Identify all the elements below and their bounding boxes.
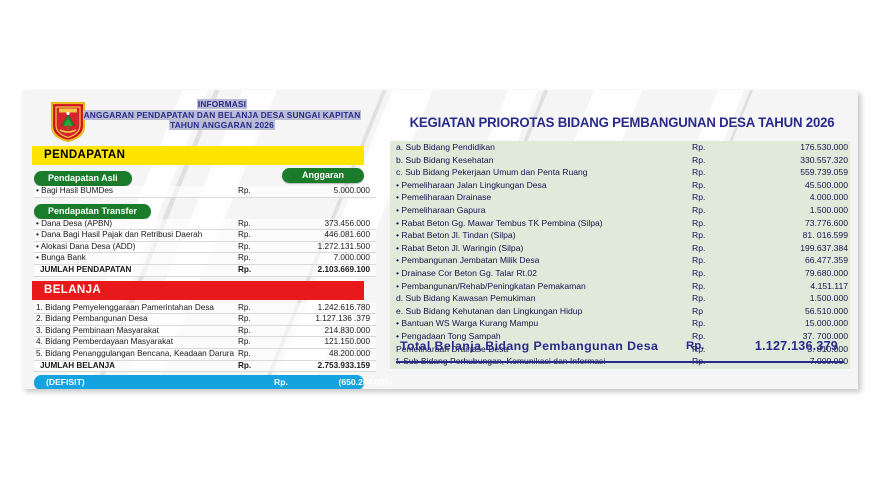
pill-pendapatan-transfer: Pendapatan Transfer — [34, 204, 151, 219]
list-item: • Pemeliharaan DrainaseRp.4.000.000 — [396, 191, 858, 204]
row-amount: 214.830.000 — [282, 325, 376, 337]
poster-title: INFORMASI ANGGARAN PENDAPATAN DAN BELANJ… — [78, 99, 366, 131]
item-label: a. Sub Bidang Pendidikan — [396, 141, 692, 154]
defisit-currency: Rp. — [274, 375, 288, 389]
pendapatan-asli-body: • Bagi Hasil BUMDesRp.5.000.000 — [34, 186, 376, 197]
row-label: JUMLAH BELANJA — [34, 360, 234, 372]
item-currency: Rp. — [692, 217, 738, 230]
table-row: JUMLAH BELANJARp.2.753.933.159 — [34, 360, 376, 372]
row-label: • Bunga Bank — [34, 253, 234, 265]
defisit-amount: (650.264.095) — [302, 375, 392, 389]
item-label: • Bantuan WS Warga Kurang Mampu — [396, 317, 692, 330]
poster-header: INFORMASI ANGGARAN PENDAPATAN DAN BELANJ… — [26, 94, 370, 146]
row-label: • Bagi Hasil BUMDes — [34, 186, 234, 197]
item-amount: 73.776.600 — [738, 217, 858, 230]
priority-panel-title: KEGIATAN PRIOROTAS BIDANG PEMBANGUNAN DE… — [406, 115, 838, 131]
table-row: • Dana Bagi Hasil Pajak dan Retribusi Da… — [34, 230, 376, 242]
item-label: • Pemeliharaan Jalan Lingkungan Desa — [396, 179, 692, 192]
pill-anggaran-column-header: Anggaran — [282, 168, 364, 183]
row-currency: Rp. — [234, 264, 282, 276]
item-currency: Rp. — [692, 154, 738, 167]
row-currency: Rp. — [234, 219, 282, 230]
list-item: • Rabat Beton Jl. Tindan (Silpa)Rp.81. 0… — [396, 229, 858, 242]
table-row: • Bunga BankRp.7.000.000 — [34, 253, 376, 265]
item-amount: 81. 016.599 — [738, 229, 858, 242]
row-currency: Rp. — [234, 337, 282, 349]
table-row: 4. Bidang Pemberdayaan MasyarakatRp.121.… — [34, 337, 376, 349]
item-amount: 559.739.059 — [738, 166, 858, 179]
section-band-pendapatan: PENDAPATAN — [32, 146, 364, 165]
item-label: • Pembangunan Jembatan Milik Desa — [396, 254, 692, 267]
item-label: • Rabat Beton Jl. Waringin (Silpa) — [396, 242, 692, 255]
table-pendapatan-asli: • Bagi Hasil BUMDesRp.5.000.000 — [34, 186, 376, 198]
table-row: JUMLAH PENDAPATANRp.2.103.669.100 — [34, 264, 376, 276]
row-currency: Rp. — [234, 348, 282, 360]
row-label: 3. Bidang Pembinaan Masyarakat — [34, 325, 234, 337]
row-label: 4. Bidang Pemberdayaan Masyarakat — [34, 337, 234, 349]
defisit-label: (DEFISIT) — [46, 375, 85, 389]
item-label: e. Sub Bidang Kehutanan dan Lingkungan H… — [396, 305, 692, 318]
table-row: 2. Bidang Pembangunan DesaRp.1.127.136 .… — [34, 314, 376, 326]
table-row: • Dana Desa (APBN)Rp.373.456.000 — [34, 219, 376, 230]
item-amount: 56.510.000 — [738, 305, 858, 318]
row-defisit: (DEFISIT) Rp. (650.264.095) — [34, 375, 364, 389]
item-label: c. Sub Bidang Pekerjaan Umum dan Penta R… — [396, 166, 692, 179]
row-amount: 121.150.000 — [282, 337, 376, 349]
table-row: 3. Bidang Pembinaan MasyarakatRp.214.830… — [34, 325, 376, 337]
revenue-expenditure-panel: INFORMASI ANGGARAN PENDAPATAN DAN BELANJ… — [26, 94, 370, 385]
row-amount: 2.103.669.100 — [282, 264, 376, 276]
item-currency: Rp. — [692, 204, 738, 217]
list-item: • Drainase Cor Beton Gg. Talar Rt.02Rp.7… — [396, 267, 858, 280]
item-label: • Pemeliharaan Drainase — [396, 191, 692, 204]
poster-title-line-3: TAHUN ANGGARAN 2026 — [169, 120, 275, 130]
row-label: • Alokasi Dana Desa (ADD) — [34, 241, 234, 253]
table-row: 5. Bidang Penanggulangan Bencana, Keadaa… — [34, 348, 376, 360]
item-label: • Pembangunan/Rehab/Peningkatan Pemakama… — [396, 280, 692, 293]
row-amount: 1.242.616.780 — [282, 303, 376, 314]
item-label: b. Sub Bidang Kesehatan — [396, 154, 692, 167]
item-currency: Rp. — [692, 254, 738, 267]
item-currency: Rp. — [692, 179, 738, 192]
list-item: • Pembangunan/Rehab/Peningkatan Pemakama… — [396, 280, 858, 293]
row-label: 2. Bidang Pembangunan Desa — [34, 314, 234, 326]
section-band-belanja: BELANJA — [32, 281, 364, 300]
list-item: • Pemeliharaan GapuraRp.1.500.000 — [396, 204, 858, 217]
row-amount: 7.000.000 — [282, 253, 376, 265]
belanja-body: 1. Bidang Pemyelenggaraan Pamerintahan D… — [34, 303, 376, 372]
row-amount: 2.753.933.159 — [282, 360, 376, 372]
list-item: • Rabat Beton Gg. Mawar Tembus TK Pembin… — [396, 217, 858, 230]
row-currency: Rp. — [234, 314, 282, 326]
item-amount: 1.500.000 — [738, 292, 858, 305]
item-amount: 4.000.000 — [738, 191, 858, 204]
item-currency: Rp. — [692, 229, 738, 242]
row-currency: Rp. — [234, 186, 282, 197]
list-item: • Pemeliharaan Jalan Lingkungan DesaRp.4… — [396, 179, 858, 192]
row-amount: 1.127.136 .379 — [282, 314, 376, 326]
item-label: • Drainase Cor Beton Gg. Talar Rt.02 — [396, 267, 692, 280]
pendapatan-transfer-header-row: Pendapatan Transfer — [26, 198, 370, 219]
table-row: • Bagi Hasil BUMDesRp.5.000.000 — [34, 186, 376, 197]
pill-pendapatan-asli: Pendapatan Asli — [34, 171, 132, 186]
list-item: • Rabat Beton Jl. Waringin (Silpa)Rp.199… — [396, 242, 858, 255]
list-item: b. Sub Bidang KesehatanRp.330.557.320 — [396, 154, 858, 167]
table-row: • Alokasi Dana Desa (ADD)Rp.1.272.131.50… — [34, 241, 376, 253]
item-label: • Rabat Beton Gg. Mawar Tembus TK Pembin… — [396, 217, 692, 230]
item-currency: Rp. — [692, 292, 738, 305]
list-item: a. Sub Bidang PendidikanRp.176.530.000 — [396, 141, 858, 154]
list-item: • Pembangunan Jembatan Milik DesaRp.66.4… — [396, 254, 858, 267]
item-currency: Rp. — [692, 242, 738, 255]
row-amount: 1.272.131.500 — [282, 241, 376, 253]
screenshot-root: INFORMASI ANGGARAN PENDAPATAN DAN BELANJ… — [0, 0, 880, 495]
table-priority-activities: a. Sub Bidang PendidikanRp.176.530.000b.… — [396, 141, 858, 368]
item-currency: Rp. — [692, 267, 738, 280]
item-amount: 330.557.320 — [738, 154, 858, 167]
item-amount: 1.500.000 — [738, 204, 858, 217]
row-currency: Rp. — [234, 303, 282, 314]
item-amount: 176.530.000 — [738, 141, 858, 154]
list-item: e. Sub Bidang Kehutanan dan Lingkungan H… — [396, 305, 858, 318]
row-currency: Rp. — [234, 360, 282, 372]
row-label: • Dana Desa (APBN) — [34, 219, 234, 230]
pendapatan-asli-header-row: Pendapatan Asli Anggaran — [26, 165, 370, 186]
row-label: JUMLAH PENDAPATAN — [34, 264, 234, 276]
poster-title-line-2: ANGGARAN PENDAPATAN DAN BELANJA DESA SUN… — [83, 110, 362, 120]
grand-total-currency: Rp. — [686, 340, 704, 352]
row-label: 1. Bidang Pemyelenggaraan Pamerintahan D… — [34, 303, 234, 314]
item-amount: 66.477.359 — [738, 254, 858, 267]
item-label: d. Sub Bidang Kawasan Pemukiman — [396, 292, 692, 305]
item-label: • Rabat Beton Jl. Tindan (Silpa) — [396, 229, 692, 242]
list-item: c. Sub Bidang Pekerjaan Umum dan Penta R… — [396, 166, 858, 179]
row-label: • Dana Bagi Hasil Pajak dan Retribusi Da… — [34, 230, 234, 242]
priority-activities-panel: KEGIATAN PRIOROTAS BIDANG PEMBANGUNAN DE… — [390, 94, 854, 385]
row-currency: Rp. — [234, 325, 282, 337]
item-currency: Rp. — [692, 191, 738, 204]
table-pendapatan-transfer: • Dana Desa (APBN)Rp.373.456.000• Dana B… — [34, 219, 376, 277]
row-currency: Rp. — [234, 230, 282, 242]
item-currency: Rp — [692, 305, 738, 318]
item-amount: 45.500.000 — [738, 179, 858, 192]
grand-total-amount: 1.127.136.379 — [726, 339, 838, 353]
poster-title-line-1: INFORMASI — [197, 99, 247, 109]
item-amount: 199.637.384 — [738, 242, 858, 255]
apbdes-infographic-poster: INFORMASI ANGGARAN PENDAPATAN DAN BELANJ… — [22, 90, 858, 389]
table-row: 1. Bidang Pemyelenggaraan Pamerintahan D… — [34, 303, 376, 314]
row-amount: 5.000.000 — [282, 186, 376, 197]
table-belanja: 1. Bidang Pemyelenggaraan Pamerintahan D… — [34, 303, 376, 373]
item-label: • Pemeliharaan Gapura — [396, 204, 692, 217]
priority-activities-box: a. Sub Bidang PendidikanRp.176.530.000b.… — [390, 141, 850, 369]
pendapatan-transfer-body: • Dana Desa (APBN)Rp.373.456.000• Dana B… — [34, 219, 376, 276]
item-amount: 4.151.117 — [738, 280, 858, 293]
item-amount: 15.000.000 — [738, 317, 858, 330]
item-currency: Rp. — [692, 141, 738, 154]
row-amount: 48.200.000 — [282, 348, 376, 360]
row-amount: 373.456.000 — [282, 219, 376, 230]
row-currency: Rp. — [234, 253, 282, 265]
priority-activities-body: a. Sub Bidang PendidikanRp.176.530.000b.… — [396, 141, 858, 368]
row-amount: 446.081.600 — [282, 230, 376, 242]
row-label: 5. Bidang Penanggulangan Bencana, Keadaa… — [34, 348, 234, 360]
item-amount: 79.680.000 — [738, 267, 858, 280]
item-currency: Rp. — [692, 317, 738, 330]
grand-total-label: Total Belanja Bidang Pembangunan Desa — [400, 339, 658, 353]
row-currency: Rp. — [234, 241, 282, 253]
list-item: d. Sub Bidang Kawasan PemukimanRp.1.500.… — [396, 292, 858, 305]
item-currency: Rp. — [692, 280, 738, 293]
grand-total-row: Total Belanja Bidang Pembangunan Desa Rp… — [396, 337, 844, 363]
item-currency: Rp. — [692, 166, 738, 179]
list-item: • Bantuan WS Warga Kurang MampuRp.15.000… — [396, 317, 858, 330]
